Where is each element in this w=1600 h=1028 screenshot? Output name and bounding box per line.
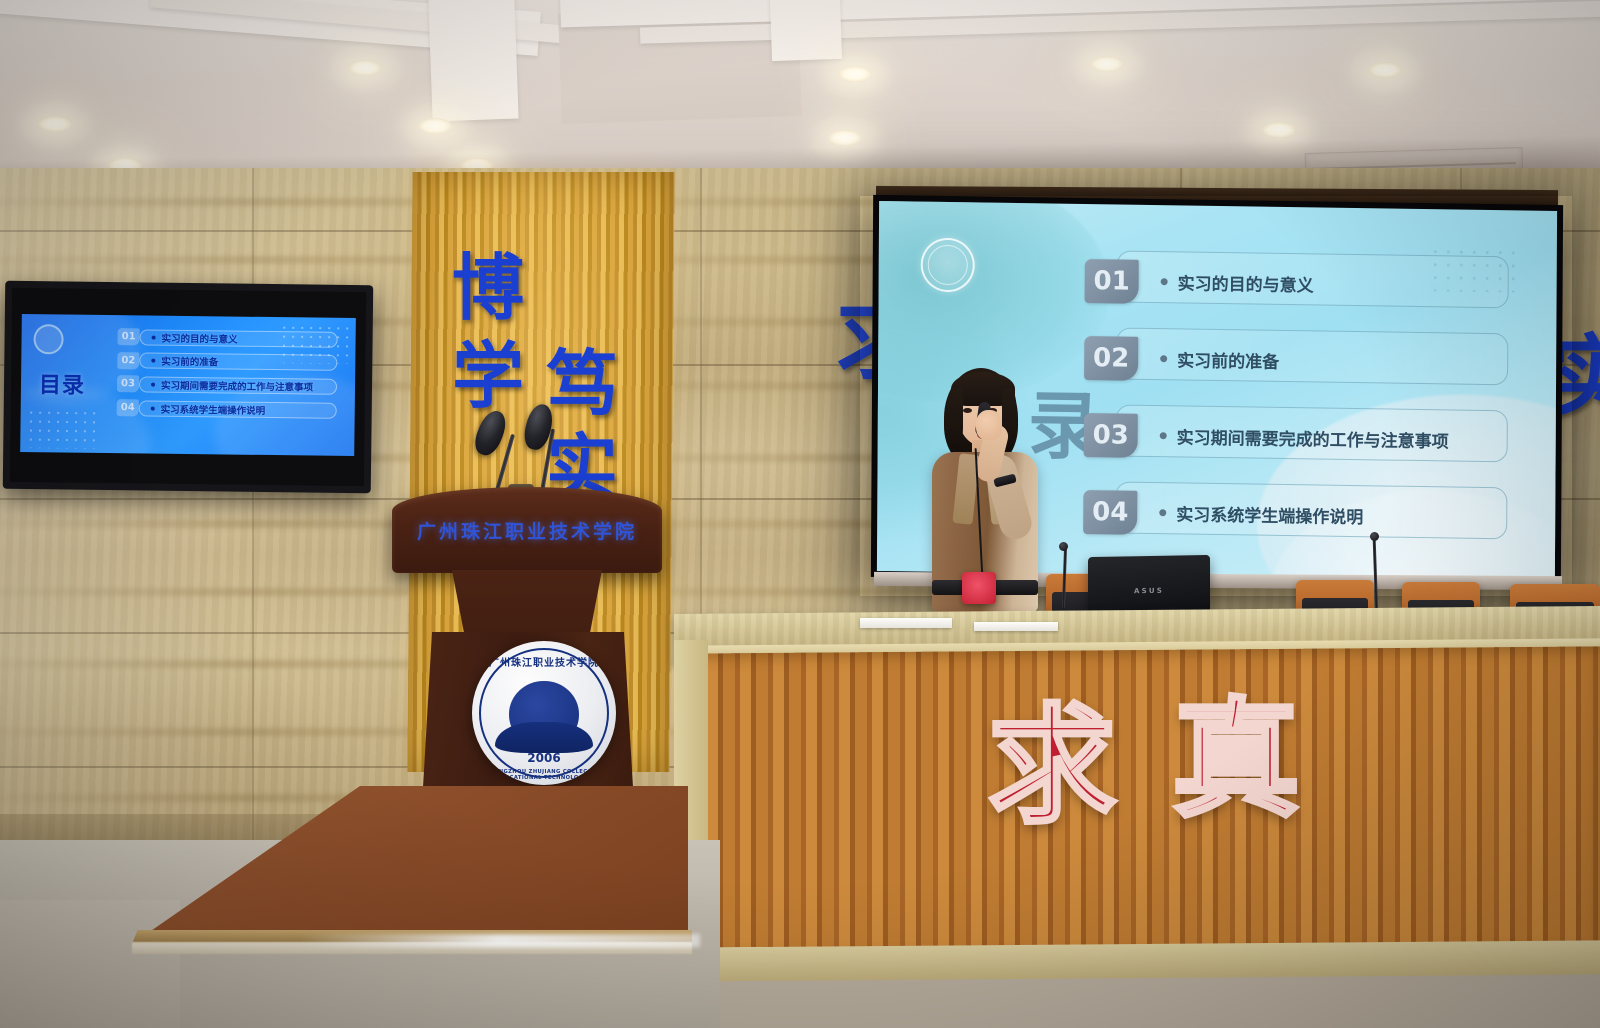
ceiling-downlight	[348, 60, 382, 76]
presenter-desk-front	[690, 646, 1600, 953]
agenda-item-number: 02	[1084, 336, 1138, 381]
tv-item-number: 01	[118, 328, 140, 345]
agenda-item-pill	[1116, 327, 1508, 385]
ceiling-downlight	[38, 116, 72, 132]
ceiling-downlight	[838, 66, 872, 82]
ceiling-downlight	[1262, 122, 1296, 138]
ceiling-downlight	[1090, 56, 1124, 72]
tv-screen: 目录 01 实习的目的与意义 02 实习前的准备 03	[20, 314, 356, 456]
tv-item-text: 实习期间需要完成的工作与注意事项	[161, 378, 313, 394]
lecture-hall-scene: 博 学 笃 实 求 实 目录 01 实习的目的与意义 02	[0, 0, 1600, 1028]
desk-calligraphy-char: 真	[1172, 696, 1300, 824]
presenter-eye	[963, 408, 972, 413]
slide-agenda-item: 01 实习的目的与意义	[1084, 242, 1508, 325]
bullet-dot-icon	[152, 335, 156, 339]
emblem-year: 2006	[472, 751, 616, 765]
emblem-wave-icon	[495, 722, 593, 754]
desk-paper	[974, 622, 1058, 631]
ceiling-downlight	[1368, 62, 1402, 78]
wall-tv-monitor[interactable]: 目录 01 实习的目的与意义 02 实习前的准备 03	[3, 281, 374, 493]
emblem-english-text: GUANGZHOU ZHUJIANG COLLEGE OF VOCATIONAL…	[472, 769, 616, 781]
bullet-dot-icon	[1161, 278, 1168, 285]
tv-item-text: 实习系统学生端操作说明	[161, 401, 266, 416]
tv-item-number: 02	[117, 352, 139, 369]
slide-agenda-item: 04 实习系统学生端操作说明	[1083, 473, 1507, 556]
agenda-item-text: 实习系统学生端操作说明	[1176, 500, 1363, 528]
wall-motto-char: 博	[452, 252, 524, 324]
bullet-dot-icon	[151, 406, 155, 410]
agenda-item-text: 实习期间需要完成的工作与注意事项	[1177, 423, 1449, 452]
desk-base-frame	[674, 940, 1600, 981]
desk-calligraphy-char: 求	[988, 702, 1116, 830]
presenter-waist-pouch	[962, 572, 996, 604]
bullet-dot-icon	[1160, 355, 1167, 362]
slide-agenda-item: 02 实习前的准备	[1084, 319, 1508, 402]
bullet-dot-icon	[1159, 509, 1166, 516]
tv-item-number: 03	[117, 376, 139, 393]
agenda-item-number: 01	[1085, 259, 1139, 304]
school-emblem-logo-icon	[921, 238, 975, 293]
bullet-dot-icon	[1160, 432, 1167, 439]
agenda-item-number: 03	[1084, 413, 1138, 458]
tv-dot-pattern	[26, 408, 96, 449]
slide-agenda-item: 03 实习期间需要完成的工作与注意事项	[1083, 396, 1507, 479]
presenter	[918, 368, 1058, 636]
podium-name-plate: 广州珠江职业技术学院	[392, 517, 662, 544]
agenda-item-text: 实习的目的与意义	[1178, 269, 1314, 296]
podium-lectern-top: 广州珠江职业技术学院	[392, 487, 662, 573]
presenter-hair-side	[948, 388, 963, 450]
tv-agenda-list: 01 实习的目的与意义 02 实习前的准备 03 实习期间需要完成的工作与注意事…	[116, 325, 343, 446]
tv-slide-title: 目录	[39, 367, 85, 400]
agenda-item-text: 实习前的准备	[1177, 346, 1279, 373]
wall-motto-char: 笃	[546, 348, 618, 420]
tv-school-logo-icon	[33, 324, 63, 354]
tv-item-text: 实习前的准备	[161, 354, 218, 369]
floor-left	[0, 900, 180, 1028]
agenda-item-number: 04	[1083, 490, 1137, 535]
desk-microphone-head	[1059, 542, 1068, 551]
tv-agenda-item: 01 实习的目的与意义	[117, 325, 343, 351]
ceiling-downlight	[418, 118, 452, 134]
floor-light-reflection	[300, 934, 700, 947]
bullet-dot-icon	[151, 383, 155, 387]
tv-agenda-item: 02 实习前的准备	[117, 349, 343, 375]
tv-agenda-item: 03 实习期间需要完成的工作与注意事项	[117, 372, 343, 398]
tv-agenda-item: 04 实习系统学生端操作说明	[117, 396, 343, 422]
emblem-chinese-text: 广州珠江职业技术学院	[472, 654, 616, 669]
desk-microphone-head	[1370, 532, 1379, 541]
tv-item-text: 实习的目的与意义	[162, 330, 238, 345]
wall-motto-char: 学	[452, 340, 524, 412]
laptop-brand-label: ASUS	[1134, 586, 1164, 595]
slide-agenda-list: 01 实习的目的与意义 02 实习前的准备 03 实习期间需要完成的工作与注意事…	[1083, 242, 1509, 556]
desk-paper	[860, 618, 952, 628]
ceiling-downlight	[828, 130, 862, 146]
presenter-hand	[976, 410, 1002, 440]
tv-item-number: 04	[117, 399, 139, 416]
podium-school-emblem: 广州珠江职业技术学院 2006 GUANGZHOU ZHUJIANG COLLE…	[472, 641, 616, 785]
